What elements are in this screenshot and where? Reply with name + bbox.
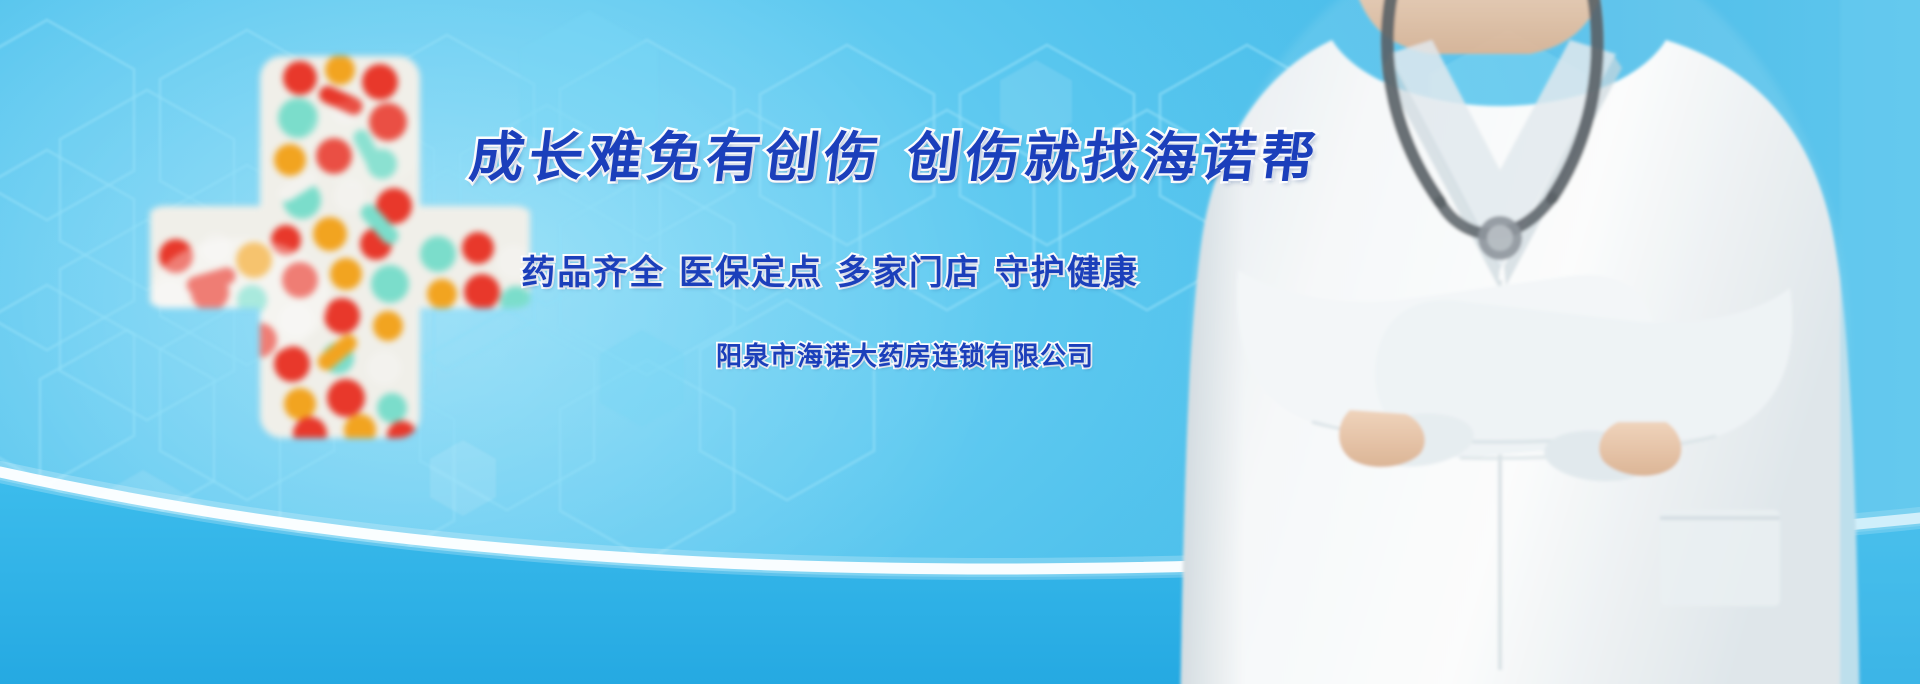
- pharmacy-banner: 成长难免有创伤 创伤就找海诺帮 药品齐全 医保定点 多家门店 守护健康 阳泉市海…: [0, 0, 1920, 684]
- banner-text-block: 成长难免有创伤 创伤就找海诺帮 药品齐全 医保定点 多家门店 守护健康 阳泉市海…: [470, 130, 1190, 373]
- banner-headline: 成长难免有创伤 创伤就找海诺帮: [467, 130, 1194, 187]
- banner-company-name: 阳泉市海诺大药房连锁有限公司: [620, 336, 1190, 373]
- doctor-in-lab-coat-image: [1100, 0, 1920, 684]
- banner-subtitle: 药品齐全 医保定点 多家门店 守护健康: [470, 245, 1190, 294]
